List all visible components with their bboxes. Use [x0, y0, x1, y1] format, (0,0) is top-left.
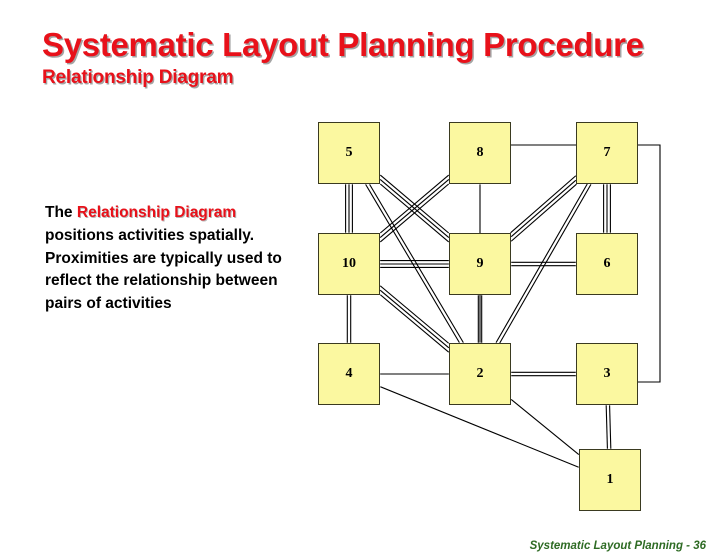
slide-canvas: Systematic Layout Planning Procedure Rel… [0, 0, 720, 560]
edge-10-2 [380, 286, 448, 343]
edge-3-1 [606, 405, 607, 448]
relationship-diagram: 58710964231 [300, 110, 710, 530]
activity-node-7[interactable]: 7 [576, 122, 638, 184]
activity-node-label: 8 [477, 145, 484, 161]
activity-node-label: 10 [342, 256, 356, 272]
activity-node-5[interactable]: 5 [318, 122, 380, 184]
activity-node-9[interactable]: 9 [449, 233, 511, 295]
activity-node-label: 3 [604, 366, 611, 382]
activity-node-label: 2 [477, 366, 484, 382]
activity-node-label: 6 [604, 256, 611, 272]
activity-node-10[interactable]: 10 [318, 233, 380, 295]
activity-node-label: 4 [346, 366, 353, 382]
body-rest: positions activities spatially. Proximit… [45, 227, 282, 312]
body-highlight-term: Relationship Diagram [77, 204, 236, 221]
edge-7-9 [511, 176, 576, 233]
edge-2-1 [511, 399, 579, 454]
edge-3-1 [610, 405, 611, 448]
edge-10-2 [380, 290, 449, 348]
activity-node-label: 7 [604, 145, 611, 161]
activity-node-6[interactable]: 6 [576, 233, 638, 295]
body-lead: The [45, 204, 77, 221]
activity-node-label: 9 [477, 256, 484, 272]
page-subtitle: Relationship Diagram [42, 67, 682, 89]
activity-node-2[interactable]: 2 [449, 343, 511, 405]
activity-node-1[interactable]: 1 [579, 449, 641, 511]
activity-node-label: 1 [607, 472, 614, 488]
title-block: Systematic Layout Planning Procedure Rel… [42, 28, 682, 89]
edge-7-9 [511, 184, 576, 241]
activity-node-4[interactable]: 4 [318, 343, 380, 405]
edge-10-2 [380, 295, 448, 352]
activity-node-3[interactable]: 3 [576, 343, 638, 405]
activity-node-label: 5 [346, 145, 353, 161]
page-title: Systematic Layout Planning Procedure [42, 28, 682, 63]
slide-footer: Systematic Layout Planning - 36 [530, 540, 706, 552]
body-paragraph: The Relationship Diagram positions activ… [45, 202, 297, 316]
activity-node-8[interactable]: 8 [449, 122, 511, 184]
